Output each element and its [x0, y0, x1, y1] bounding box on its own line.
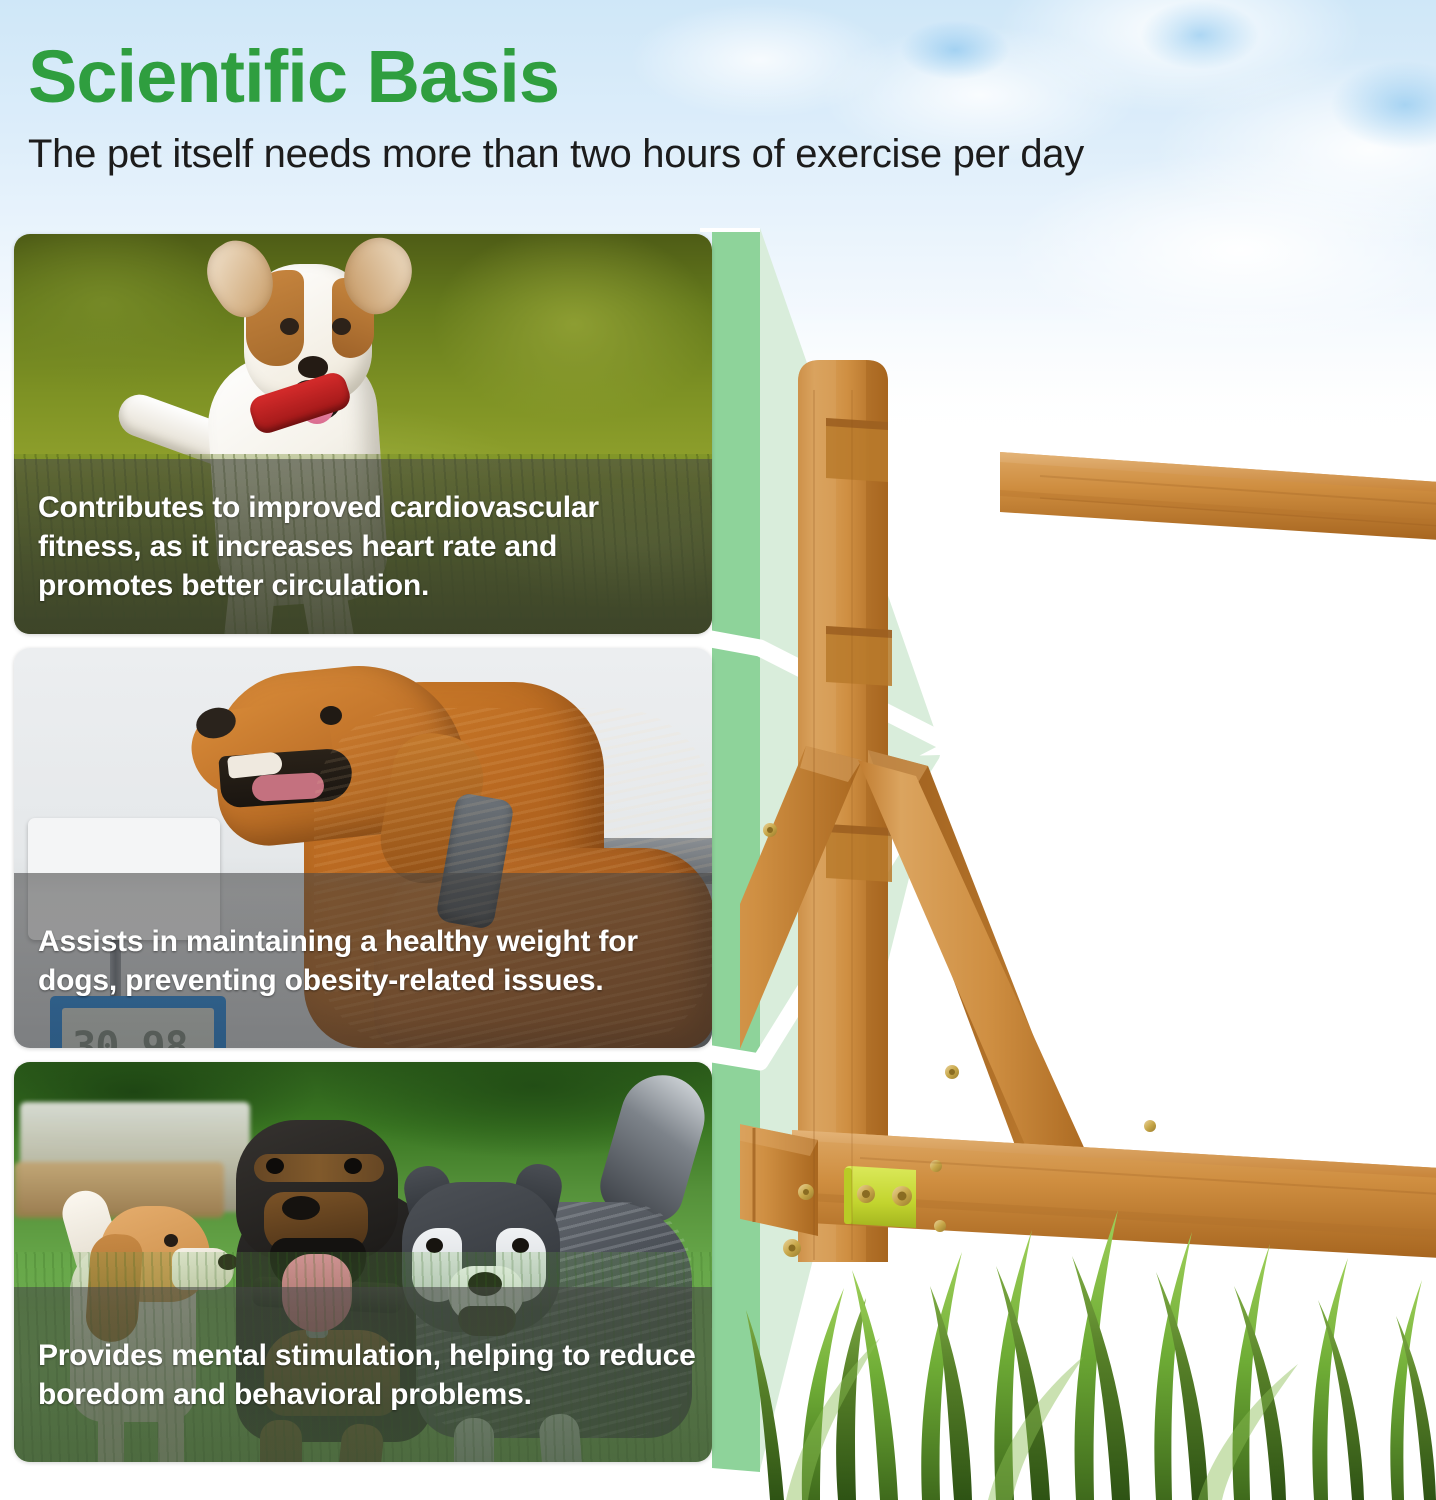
horizontal-jump-bar	[1000, 452, 1436, 540]
header: Scientific Basis The pet itself needs mo…	[28, 40, 1418, 176]
infographic-canvas: Scientific Basis The pet itself needs mo…	[0, 0, 1436, 1500]
benefit-caption: Provides mental stimulation, helping to …	[14, 1336, 712, 1414]
benefit-card-mental-stimulation[interactable]: Provides mental stimulation, helping to …	[14, 1062, 712, 1462]
benefit-caption: Assists in maintaining a healthy weight …	[14, 922, 712, 1000]
benefit-card-healthy-weight[interactable]: 30.98 kg Assists in maintaining a health…	[14, 648, 712, 1048]
benefit-card-cardiovascular[interactable]: Contributes to improved cardiovascular f…	[14, 234, 712, 634]
foreground-grass	[740, 1170, 1436, 1500]
page-title: Scientific Basis	[28, 40, 1418, 114]
grass-blades	[746, 1210, 1436, 1500]
benefit-caption: Contributes to improved cardiovascular f…	[14, 488, 712, 605]
caption-band: Contributes to improved cardiovascular f…	[14, 459, 712, 634]
caption-band: Provides mental stimulation, helping to …	[14, 1287, 712, 1462]
a-frame-leg-right	[858, 760, 1096, 1174]
caption-band: Assists in maintaining a healthy weight …	[14, 873, 712, 1048]
page-subtitle: The pet itself needs more than two hours…	[28, 132, 1418, 176]
